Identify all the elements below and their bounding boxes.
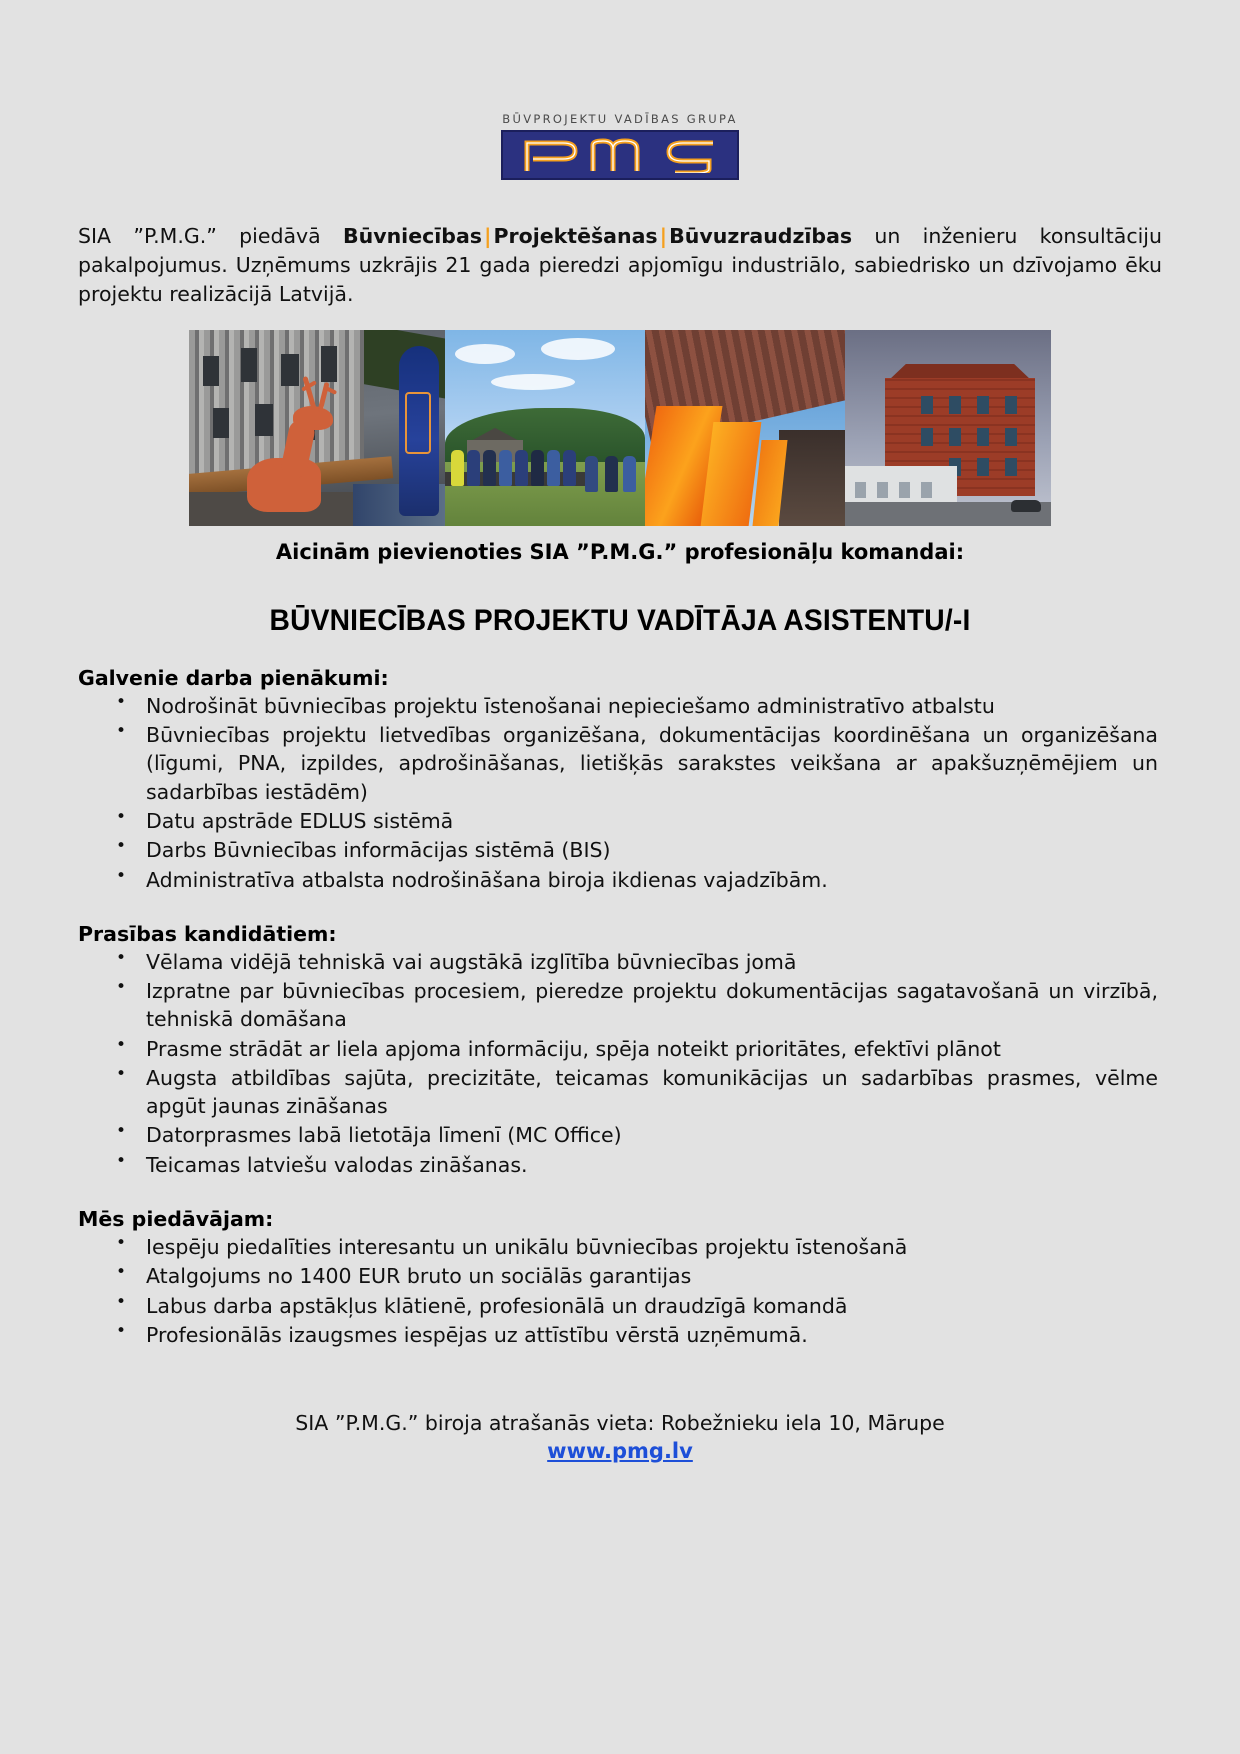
pmg-logo-icon <box>517 137 723 173</box>
list-item: Atalgojums no 1400 EUR bruto un sociālās… <box>112 1262 1162 1290</box>
website-link[interactable]: www.pmg.lv <box>547 1439 693 1463</box>
list-item: Profesionālās izaugsmes iespējas uz attī… <box>112 1321 1162 1349</box>
pmg-wordmark-box <box>501 130 739 180</box>
photo-strip <box>189 330 1051 526</box>
section-heading: Galvenie darba pienākumi: <box>78 666 1162 690</box>
list-item: Nodrošināt būvniecības projektu īstenoša… <box>112 692 1162 720</box>
photo-orange-deer-sculpture <box>189 330 445 526</box>
intro-paragraph: SIA ”P.M.G.” piedāvā Būvniecības|Projekt… <box>78 222 1162 309</box>
requirements-list: Vēlama vidējā tehniskā vai augstākā izgl… <box>78 948 1162 1179</box>
office-address: SIA ”P.M.G.” biroja atrašanās vieta: Rob… <box>78 1411 1162 1435</box>
section-offer: Mēs piedāvājam: Iespēju piedalīties inte… <box>78 1207 1162 1349</box>
service-buvniecibas: Būvniecības <box>343 224 482 248</box>
invitation-heading: Aicinām pievienoties SIA ”P.M.G.” profes… <box>78 540 1162 564</box>
photo-pmg-team-event <box>445 330 645 526</box>
list-item: Administratīva atbalsta nodrošināšana bi… <box>112 866 1162 894</box>
intro-lead: SIA ”P.M.G.” piedāvā <box>78 224 343 248</box>
list-item: Vēlama vidējā tehniskā vai augstākā izgl… <box>112 948 1162 976</box>
footer: SIA ”P.M.G.” biroja atrašanās vieta: Rob… <box>78 1411 1162 1463</box>
job-title: BŪVNIECĪBAS PROJEKTU VADĪTĀJA ASISTENTU/… <box>111 604 1130 638</box>
list-item: Būvniecības projektu lietvedības organiz… <box>112 721 1162 806</box>
list-item: Datu apstrāde EDLUS sistēmā <box>112 807 1162 835</box>
list-item: Darbs Būvniecības informācijas sistēmā (… <box>112 836 1162 864</box>
section-requirements: Prasības kandidātiem: Vēlama vidējā tehn… <box>78 922 1162 1179</box>
list-item: Teicamas latviešu valodas zināšanas. <box>112 1151 1162 1179</box>
service-buvuzraudzibas: Būvuzraudzības <box>669 224 852 248</box>
service-projektesanas: Projektēšanas <box>493 224 657 248</box>
company-logo: BŪVPROJEKTU VADĪBAS GRUPA <box>78 0 1162 180</box>
list-item: Datorprasmes labā lietotāja līmenī (MC O… <box>112 1121 1162 1149</box>
list-item: Izpratne par būvniecības procesiem, pier… <box>112 977 1162 1034</box>
job-advertisement-page: BŪVPROJEKTU VADĪBAS GRUPA SIA ”P.M.G.” <box>0 0 1240 1754</box>
list-item: Iespēju piedalīties interesantu un unikā… <box>112 1233 1162 1261</box>
photo-brick-building <box>845 330 1051 526</box>
list-item: Prasme strādāt ar liela apjoma informāci… <box>112 1035 1162 1063</box>
service-separator-2: | <box>658 224 670 248</box>
section-duties: Galvenie darba pienākumi: Nodrošināt būv… <box>78 666 1162 894</box>
section-heading: Prasības kandidātiem: <box>78 922 1162 946</box>
photo-orange-architecture <box>645 330 845 526</box>
list-item: Augsta atbildības sajūta, precizitāte, t… <box>112 1064 1162 1121</box>
duties-list: Nodrošināt būvniecības projektu īstenoša… <box>78 692 1162 894</box>
offer-list: Iespēju piedalīties interesantu un unikā… <box>78 1233 1162 1349</box>
list-item: Labus darba apstākļus klātienē, profesio… <box>112 1292 1162 1320</box>
section-heading: Mēs piedāvājam: <box>78 1207 1162 1231</box>
service-separator-1: | <box>482 224 494 248</box>
logo-tagline: BŪVPROJEKTU VADĪBAS GRUPA <box>502 112 737 126</box>
